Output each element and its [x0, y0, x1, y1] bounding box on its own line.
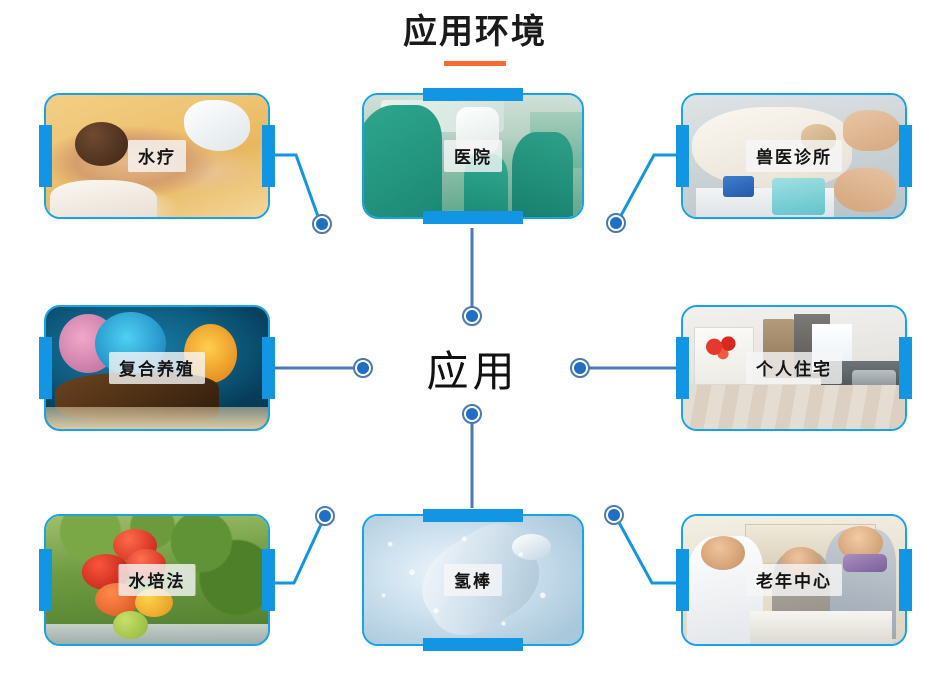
connector-node-hospital [462, 306, 482, 326]
card-residence[interactable]: 个人住宅 [681, 305, 907, 431]
connector-tab-top [423, 509, 523, 522]
connector-tab-left [39, 337, 52, 399]
connector-node-senior-center [604, 505, 624, 525]
connector-tab-left [676, 549, 689, 611]
connector-tab-right [262, 549, 275, 611]
connector-node-vet-clinic [606, 213, 626, 233]
connector-tab-right [899, 125, 912, 187]
title-underline-accent [444, 61, 506, 66]
card-hydrogen-rod[interactable]: 氢棒 [362, 514, 584, 646]
connector-tab-left [39, 549, 52, 611]
hub-label: 应用 [385, 338, 560, 399]
connector-tab-left [39, 125, 52, 187]
connector-tab-bottom [423, 638, 523, 651]
card-label-hydrogen-rod: 氢棒 [444, 564, 502, 596]
connector-node-aquaculture [353, 358, 373, 378]
connector-tab-right [899, 337, 912, 399]
connector-node-hydrogen-rod [462, 404, 482, 424]
card-label-aquaculture: 复合养殖 [109, 352, 205, 384]
card-label-spa: 水疗 [128, 140, 186, 172]
card-label-hydroponics: 水培法 [119, 564, 196, 596]
connector-tab-right [262, 337, 275, 399]
page-title: 应用环境 [0, 10, 950, 54]
connector-tab-left [676, 337, 689, 399]
card-spa[interactable]: 水疗 [44, 93, 270, 219]
card-vet-clinic[interactable]: 兽医诊所 [681, 93, 907, 219]
card-label-senior-center: 老年中心 [746, 564, 842, 596]
infographic-canvas: 应用环境 应用 水疗 医院 [0, 0, 950, 682]
connector-tab-bottom [423, 211, 523, 224]
connector-node-residence [570, 358, 590, 378]
card-hydroponics[interactable]: 水培法 [44, 514, 270, 646]
connector-node-spa [312, 214, 332, 234]
card-label-hospital: 医院 [444, 140, 502, 172]
connector-tab-right [262, 125, 275, 187]
card-aquaculture[interactable]: 复合养殖 [44, 305, 270, 431]
card-label-residence: 个人住宅 [746, 352, 842, 384]
connector-tab-right [899, 549, 912, 611]
connector-tab-top [423, 88, 523, 101]
card-label-vet-clinic: 兽医诊所 [746, 140, 842, 172]
card-hospital[interactable]: 医院 [362, 93, 584, 219]
card-senior-center[interactable]: 老年中心 [681, 514, 907, 646]
connector-tab-left [676, 125, 689, 187]
connector-node-hydroponics [315, 506, 335, 526]
